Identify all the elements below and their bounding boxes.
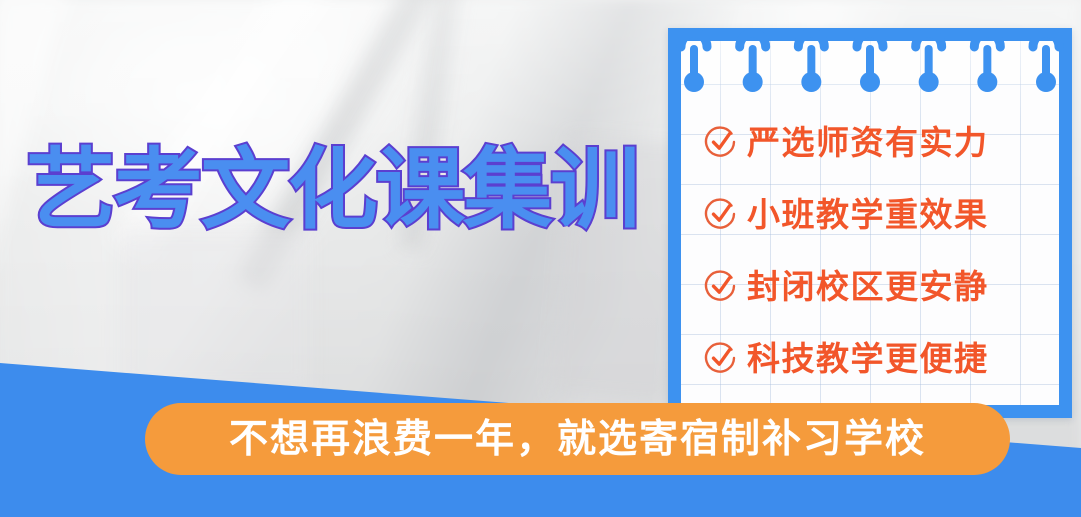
list-item-label: 小班教学重效果 bbox=[747, 198, 989, 231]
list-item: 封闭校区更安静 bbox=[704, 250, 1058, 322]
list-item-label: 科技教学更便捷 bbox=[747, 342, 989, 375]
feature-list: 严选师资有实力 小班教学重效果 封闭校区更安 bbox=[704, 106, 1058, 394]
headline-text: 艺考文化课集训 bbox=[26, 140, 638, 239]
list-item-label: 严选师资有实力 bbox=[747, 126, 989, 159]
list-item: 严选师资有实力 bbox=[704, 106, 1058, 178]
promotional-banner: 艺考文化课集训 严选师资有实力 bbox=[0, 0, 1081, 517]
check-circle-icon bbox=[704, 197, 738, 231]
list-item-label: 封闭校区更安静 bbox=[747, 270, 989, 303]
check-circle-icon bbox=[704, 125, 738, 159]
list-item: 科技教学更便捷 bbox=[704, 322, 1058, 394]
check-circle-icon bbox=[704, 269, 738, 303]
list-item: 小班教学重效果 bbox=[704, 178, 1058, 250]
cta-banner[interactable]: 不想再浪费一年，就选寄宿制补习学校 bbox=[145, 403, 1010, 475]
cta-text: 不想再浪费一年，就选寄宿制补习学校 bbox=[229, 420, 926, 459]
headline-title: 艺考文化课集训 bbox=[26, 138, 646, 242]
notepad-card: 严选师资有实力 小班教学重效果 封闭校区更安 bbox=[668, 28, 1072, 418]
check-circle-icon bbox=[704, 341, 738, 375]
